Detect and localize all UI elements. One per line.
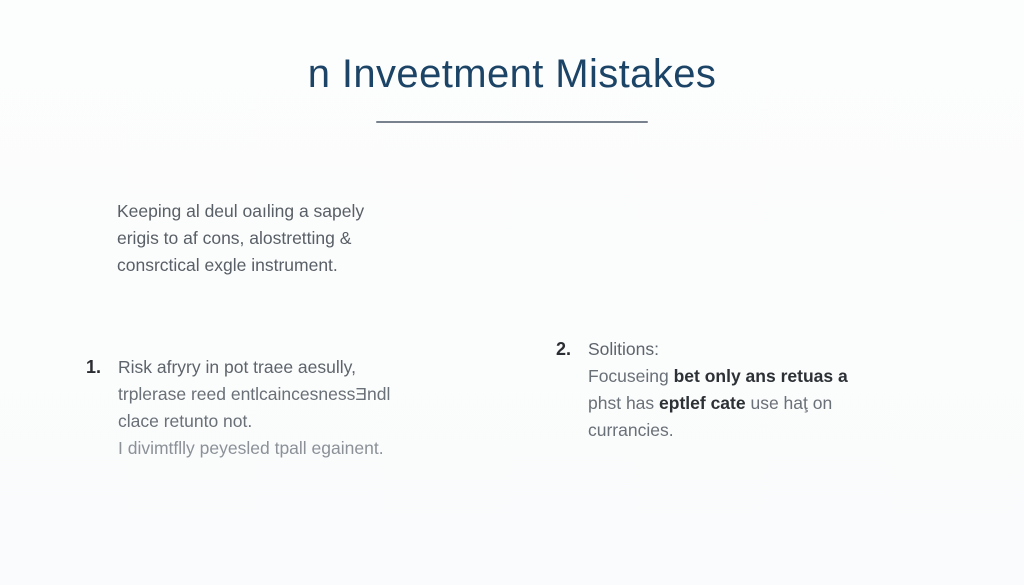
list-item: 2. Solitions: Focuseing bet only ans ret…: [556, 336, 936, 444]
right-line-3-plain-b: use haţ on: [746, 393, 833, 413]
right-heading: Solitions:: [588, 336, 936, 363]
list-item-body: Solitions: Focuseing bet only ans retuas…: [588, 336, 936, 444]
right-line-3-strong: eptlef cate: [659, 393, 746, 413]
list-item-number: 1.: [86, 354, 101, 381]
intro-line-1: Keeping al deul oaıling a sapely: [117, 198, 517, 225]
left-line-4: I divimtflly peyesled tpall egainent.: [118, 435, 486, 462]
body-columns: 1. Risk afryry in pot traee aesully, trp…: [0, 336, 1024, 506]
right-line-4: currancies.: [588, 417, 936, 444]
column-right: 2. Solitions: Focuseing bet only ans ret…: [556, 336, 936, 444]
list-item: 1. Risk afryry in pot traee aesully, trp…: [86, 354, 486, 462]
intro-paragraph: Keeping al deul oaıling a sapely erigis …: [117, 198, 517, 279]
right-line-2: Focuseing bet only ans retuas a: [588, 363, 936, 390]
right-line-2-plain: Focuseing: [588, 366, 674, 386]
right-line-2-strong: bet only ans retuas a: [674, 366, 848, 386]
right-line-3: phst has eptlef cate use haţ on: [588, 390, 936, 417]
page-title: n Inveetment Mistakes: [0, 52, 1024, 97]
title-divider: [376, 121, 648, 123]
list-item-number: 2.: [556, 336, 571, 363]
intro-line-2: erigis to af cons, alostretting &: [117, 225, 517, 252]
right-line-3-plain-a: phst has: [588, 393, 659, 413]
intro-line-3: consrctical exgle instrument.: [117, 252, 517, 279]
left-line-1: Risk afryry in pot traee aesully,: [118, 354, 486, 381]
column-left: 1. Risk afryry in pot traee aesully, trp…: [86, 336, 486, 462]
left-line-3: clace retunto not.: [118, 408, 486, 435]
left-line-2: trplerase reed entlcaincesnessƎndl: [118, 381, 486, 408]
title-block: n Inveetment Mistakes: [0, 52, 1024, 123]
slide-canvas: n Inveetment Mistakes Keeping al deul oa…: [0, 0, 1024, 585]
list-item-body: Risk afryry in pot traee aesully, trpler…: [118, 354, 486, 462]
